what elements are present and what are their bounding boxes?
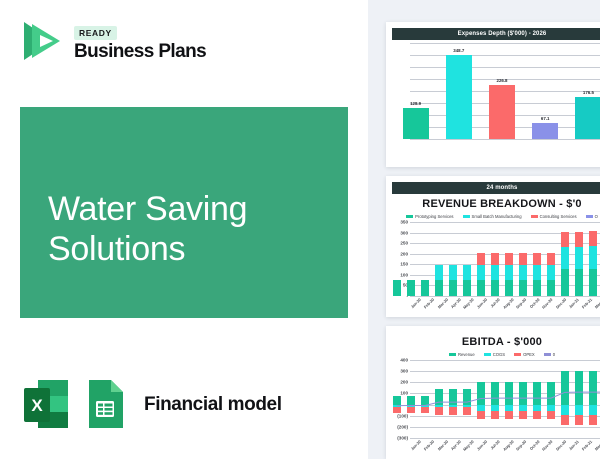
ebitda-plot-area: 400300200100-(100)(200)(300) <box>390 360 600 438</box>
x-axis-tick-label: Feb-20 <box>423 297 435 309</box>
stacked-bar <box>589 222 596 296</box>
ebitda-x-axis-labels: Jan-20Feb-20Mar-20Apr-20May-20Jun-20Jul-… <box>406 438 600 444</box>
chart-card-ebitda: EBITDA - $'000 RevenueCOGSOPEX0 40030020… <box>386 326 600 459</box>
stacked-bar <box>463 222 470 296</box>
bar-value-label: 67.1 <box>541 116 550 121</box>
chart-card-expenses: Expenses Depth ($'000) - 2026 128.9348.7… <box>386 22 600 167</box>
x-axis-tick-label: Feb-20 <box>423 439 435 451</box>
stack-segment <box>589 269 596 296</box>
x-axis-tick-label: Nov-20 <box>541 439 554 452</box>
legend-swatch <box>586 215 593 218</box>
bar-slot <box>572 222 586 296</box>
x-axis-tick-label: Mar-21 <box>594 297 600 309</box>
legend-swatch <box>484 353 491 356</box>
stack-segment <box>435 265 442 280</box>
stack-segment <box>491 265 498 280</box>
stack-segment <box>491 253 498 265</box>
bar-wrapper: 128.9 <box>403 108 429 139</box>
financial-model-label: Financial model <box>144 394 282 416</box>
bar <box>489 85 515 139</box>
stack-segment <box>393 280 400 296</box>
bar-slot: 348.7 <box>437 43 480 139</box>
bar-slot <box>488 222 502 296</box>
bar-slot: 67.1 <box>524 43 567 139</box>
bar-slot: 226.8 <box>480 43 523 139</box>
stacked-bar <box>519 222 526 296</box>
stack-segment <box>561 247 568 269</box>
legend-label: Revenue <box>458 352 475 357</box>
bar-slot <box>544 222 558 296</box>
stack-segment <box>547 253 554 265</box>
x-axis-tick-label: Jul-20 <box>489 297 500 308</box>
bar-slot <box>432 222 446 296</box>
x-axis-tick-label: Jan-20 <box>410 439 422 451</box>
google-sheets-file-icon <box>83 378 127 432</box>
legend-item: Small Batch Manufacturing <box>463 214 522 219</box>
x-axis-tick-label: Jul-20 <box>489 439 500 450</box>
x-label-slot: Jan-20 <box>406 438 419 444</box>
x-axis-tick-label: Aug-20 <box>502 297 515 310</box>
stack-segment <box>575 247 582 269</box>
file-format-row: X Financial model <box>22 378 282 432</box>
legend-item: O <box>586 214 598 219</box>
bar-slot <box>474 222 488 296</box>
x-axis-tick-label: Apr-20 <box>449 439 461 451</box>
x-axis-tick-label: Oct-20 <box>528 439 540 451</box>
stacked-bar <box>407 222 414 296</box>
x-axis-tick-label: Nov-20 <box>541 297 554 310</box>
stack-segment <box>547 265 554 280</box>
x-axis-tick-label: Feb-21 <box>581 297 593 309</box>
stack-segment <box>547 280 554 296</box>
x-axis-tick-label: Mar-20 <box>436 297 448 309</box>
legend-item: COGS <box>484 352 505 357</box>
stacked-bar <box>449 222 456 296</box>
stack-segment <box>449 265 456 280</box>
stack-segment <box>505 280 512 296</box>
bar-slot: 176.5 <box>567 43 600 139</box>
legend-item: Consulting Services <box>531 214 577 219</box>
x-axis-tick-label: Oct-20 <box>528 297 540 309</box>
ebitda-trend-line <box>390 360 600 438</box>
stacked-bar <box>561 222 568 296</box>
x-axis-tick-label: Apr-20 <box>449 297 461 309</box>
legend-item: 0 <box>544 352 555 357</box>
stack-segment <box>421 280 428 296</box>
stack-segment <box>435 280 442 296</box>
stack-segment <box>505 265 512 280</box>
svg-text:X: X <box>31 396 43 415</box>
legend-item: Revenue <box>449 352 475 357</box>
stacked-bar <box>575 222 582 296</box>
stack-segment <box>519 265 526 280</box>
expenses-chart-title: Expenses Depth ($'000) - 2026 <box>392 28 600 40</box>
stack-segment <box>477 265 484 280</box>
stack-segment <box>561 232 568 247</box>
stacked-bar <box>435 222 442 296</box>
stack-segment <box>519 280 526 296</box>
stack-segment <box>505 253 512 265</box>
stack-segment <box>477 280 484 296</box>
stacked-bar <box>477 222 484 296</box>
bar <box>403 108 429 139</box>
revenue-x-axis-labels: Jan-20Feb-20Mar-20Apr-20May-20Jun-20Jul-… <box>406 296 600 302</box>
bar-value-label: 128.9 <box>410 101 421 106</box>
bar-slot: 128.9 <box>394 43 437 139</box>
stack-segment <box>575 232 582 247</box>
revenue-bars <box>390 222 600 296</box>
x-axis-tick-label: Jan-21 <box>567 297 579 309</box>
bar-slot <box>586 222 600 296</box>
stack-segment <box>575 269 582 296</box>
stack-segment <box>519 253 526 265</box>
bar-slot <box>460 222 474 296</box>
page-title: Water Saving Solutions <box>48 189 348 269</box>
brand-text-block: READY Business Plans <box>74 21 206 62</box>
legend-swatch <box>406 215 413 218</box>
bar <box>575 97 600 139</box>
x-axis-tick-label: Mar-21 <box>594 439 600 451</box>
revenue-plot-area: 35030025020015010050- <box>390 222 600 296</box>
legend-label: O <box>595 214 598 219</box>
legend-item: Prototyping Services <box>406 214 453 219</box>
brand-lockup: READY Business Plans <box>20 18 206 64</box>
legend-swatch <box>463 215 470 218</box>
x-axis-tick-label: May-20 <box>462 297 475 310</box>
stack-segment <box>561 269 568 296</box>
legend-label: COGS <box>493 352 505 357</box>
revenue-chart-title: REVENUE BREAKDOWN - $'0 <box>386 198 600 210</box>
stack-segment <box>477 253 484 265</box>
bar <box>446 55 472 139</box>
legend-swatch <box>531 215 538 218</box>
bar-slot <box>516 222 530 296</box>
expenses-bars: 128.9348.7226.867.1176.5 <box>394 43 600 139</box>
stack-segment <box>463 265 470 280</box>
revenue-legend: Prototyping ServicesSmall Batch Manufact… <box>386 214 600 219</box>
stacked-bar <box>505 222 512 296</box>
stacked-bar <box>393 222 400 296</box>
stacked-bar <box>491 222 498 296</box>
legend-swatch <box>449 353 456 356</box>
stack-segment <box>533 265 540 280</box>
bar-slot <box>446 222 460 296</box>
bar-slot <box>404 222 418 296</box>
ready-badge: READY <box>74 26 117 40</box>
stack-segment <box>449 280 456 296</box>
bar <box>532 123 558 139</box>
bar-wrapper: 348.7 <box>446 55 472 139</box>
expenses-plot-area: 128.9348.7226.867.1176.5 <box>390 43 600 139</box>
x-axis-tick-label: Sep-20 <box>515 439 528 452</box>
bar-slot <box>502 222 516 296</box>
bar-wrapper: 67.1 <box>532 123 558 139</box>
bar-wrapper: 176.5 <box>575 97 600 139</box>
stack-segment <box>463 280 470 296</box>
ebitda-legend: RevenueCOGSOPEX0 <box>386 352 600 357</box>
legend-label: 0 <box>553 352 555 357</box>
stack-segment <box>589 231 596 245</box>
bar-value-label: 176.5 <box>583 90 594 95</box>
stack-segment <box>533 280 540 296</box>
bar-value-label: 348.7 <box>453 48 464 53</box>
hero-banner: Water Saving Solutions <box>20 107 348 318</box>
gridline <box>410 139 600 140</box>
brand-name: Business Plans <box>74 42 206 62</box>
x-axis-tick-label: May-20 <box>462 439 475 452</box>
stack-segment <box>407 280 414 296</box>
legend-label: OPEX <box>523 352 535 357</box>
x-axis-tick-label: Jun-20 <box>476 439 488 451</box>
legend-item: OPEX <box>514 352 535 357</box>
stack-segment <box>533 253 540 265</box>
revenue-period-header: 24 months <box>392 182 600 194</box>
legend-label: Prototyping Services <box>415 214 453 219</box>
x-axis-tick-label: Dec-20 <box>554 439 567 452</box>
legend-swatch <box>544 353 551 356</box>
legend-swatch <box>514 353 521 356</box>
legend-label: Small Batch Manufacturing <box>472 214 522 219</box>
x-axis-tick-label: Sep-20 <box>515 297 528 310</box>
x-axis-tick-label: Jan-21 <box>567 439 579 451</box>
chart-card-revenue: 24 months REVENUE BREAKDOWN - $'0 Protot… <box>386 176 600 317</box>
x-axis-tick-label: Feb-21 <box>581 439 593 451</box>
bar-slot <box>530 222 544 296</box>
x-axis-tick-label: Aug-20 <box>502 439 515 452</box>
play-triangle-logo-icon <box>20 18 64 64</box>
x-axis-tick-label: Jan-20 <box>410 297 422 309</box>
bar-value-label: 226.8 <box>497 78 508 83</box>
x-axis-tick-label: Jun-20 <box>476 297 488 309</box>
stacked-bar <box>533 222 540 296</box>
ebitda-chart-title: EBITDA - $'000 <box>386 336 600 348</box>
bar-wrapper: 226.8 <box>489 85 515 139</box>
x-label-slot: Jan-20 <box>406 296 419 302</box>
stack-segment <box>491 280 498 296</box>
stack-segment <box>589 246 596 269</box>
excel-file-icon: X <box>22 378 72 432</box>
bar-slot <box>390 222 404 296</box>
bar-slot <box>418 222 432 296</box>
x-axis-tick-label: Dec-20 <box>554 297 567 310</box>
stacked-bar <box>547 222 554 296</box>
x-axis-tick-label: Mar-20 <box>436 439 448 451</box>
stacked-bar <box>421 222 428 296</box>
legend-label: Consulting Services <box>540 214 577 219</box>
bar-slot <box>558 222 572 296</box>
